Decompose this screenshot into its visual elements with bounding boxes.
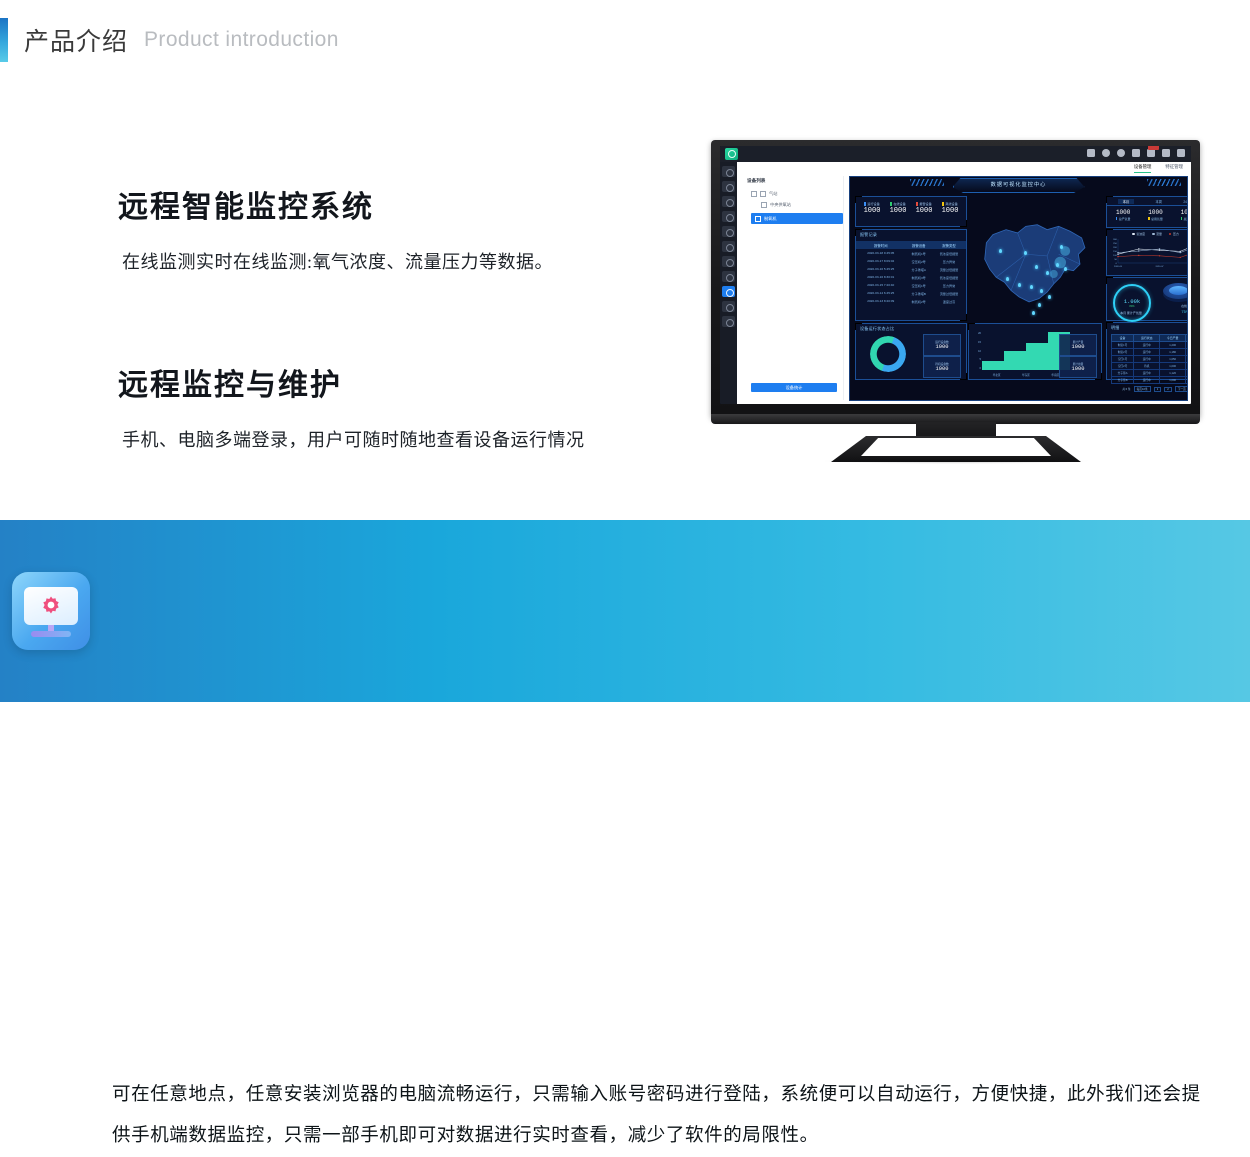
table-cell: 流量过低报警 bbox=[932, 289, 966, 297]
map-pin[interactable] bbox=[1035, 265, 1038, 269]
china-map-shape bbox=[968, 205, 1100, 320]
gear-icon bbox=[39, 595, 63, 619]
map-pin[interactable] bbox=[1030, 285, 1033, 289]
app-logo-icon bbox=[725, 148, 738, 160]
map-pin[interactable] bbox=[1024, 251, 1027, 255]
table-cell: 2020-03-16 5:45:25 bbox=[856, 265, 906, 273]
section-block-2: 远程监控与维护 手机、电脑多端登录，用户可随时随地查看设备运行情况 bbox=[118, 360, 585, 452]
table-cell: 0条 bbox=[1186, 342, 1188, 349]
table-cell: 分子筛塔A bbox=[906, 265, 932, 273]
stats-item: 1000 总运行时 bbox=[1181, 209, 1188, 221]
bar-chart-bars bbox=[982, 332, 1070, 370]
table-row[interactable]: 2020-03-17 8:09:02空压机2号压力异常 bbox=[856, 257, 966, 265]
table-cell: 制氧机3号 bbox=[906, 273, 932, 281]
map-pin[interactable] bbox=[1048, 295, 1051, 299]
detail-col-1: 运行状态 bbox=[1134, 335, 1160, 342]
stats-label: 总用氧量 bbox=[1151, 217, 1163, 221]
table-cell: 1,120 bbox=[1160, 370, 1186, 377]
pagination-per-page[interactable]: 每页10条 bbox=[1134, 386, 1151, 392]
svg-text:150: 150 bbox=[1113, 251, 1117, 253]
table-cell: 温度过高 bbox=[932, 297, 966, 305]
table-cell: 流量过低报警 bbox=[932, 265, 966, 273]
svg-text:2020-07: 2020-07 bbox=[1155, 266, 1164, 268]
map-pin[interactable] bbox=[999, 249, 1002, 253]
kpi-value: 1000 bbox=[864, 207, 881, 215]
pagination-page-2[interactable]: 2 bbox=[1164, 387, 1172, 392]
stats-value: 1000 bbox=[1181, 209, 1188, 216]
tab-device-management[interactable]: 设备管理 bbox=[1134, 164, 1152, 173]
table-cell: 2020-03-14 6:45:25 bbox=[856, 289, 906, 297]
bar bbox=[1004, 351, 1026, 370]
kpi-item: 报警设备 1000 bbox=[916, 201, 933, 215]
clock-icon[interactable] bbox=[1117, 149, 1125, 157]
table-row[interactable]: 2020-03-18 9:45:05制氧机1号氧浓度低报警 bbox=[856, 249, 966, 257]
gauge-caption: 本月 累计产氧量 bbox=[1110, 311, 1152, 315]
stats-label: 总产氧量 bbox=[1119, 217, 1131, 221]
monitor-base bbox=[31, 631, 71, 637]
app-topbar bbox=[720, 146, 1191, 162]
stats-tab-month[interactable]: 本月 bbox=[1118, 199, 1134, 204]
cloud-icon[interactable] bbox=[722, 271, 735, 282]
table-cell: 运行中 bbox=[1134, 342, 1160, 349]
bar-chart-x-axis: 华北区 华东区 华南区 bbox=[982, 373, 1070, 377]
table-cell: 运行中 bbox=[1134, 377, 1160, 384]
alarm-col-2: 报警类型 bbox=[932, 241, 966, 249]
app-content: 设备管理 特征管理 设备列表 气站 中央供氧站 bbox=[737, 162, 1191, 404]
pagination-next[interactable]: 下一页 bbox=[1175, 386, 1188, 392]
map-pin[interactable] bbox=[1060, 245, 1063, 249]
table-cell: 1条 bbox=[1186, 349, 1188, 356]
tab-feature-management[interactable]: 特征管理 bbox=[1165, 164, 1183, 173]
table-cell: 分子筛B bbox=[1111, 377, 1133, 384]
table-row[interactable]: 2020-03-13 8:20:09制氧机2号温度过高 bbox=[856, 297, 966, 305]
checkbox-icon[interactable] bbox=[755, 216, 761, 222]
detail-col-3: 报警 bbox=[1186, 335, 1188, 342]
mail-icon[interactable] bbox=[1132, 149, 1140, 157]
dashboard-title: 数据可视化监控中心 bbox=[991, 181, 1047, 188]
line-series bbox=[1118, 243, 1188, 255]
trash-icon[interactable] bbox=[1087, 149, 1095, 157]
table-cell: 2020-03-17 8:09:02 bbox=[856, 257, 906, 265]
header-accent-bar bbox=[0, 18, 8, 62]
table-cell: 制氧机2号 bbox=[906, 297, 932, 305]
alarm-col-0: 报警时间 bbox=[856, 241, 906, 249]
alert-icon[interactable] bbox=[722, 196, 735, 207]
monitor-icon[interactable] bbox=[722, 286, 735, 297]
disc-stat-0: 在线率75% bbox=[1181, 304, 1188, 314]
line-chart-panel: 氧浓度 流量 压力 0501001502002503002020-052020-… bbox=[1106, 229, 1188, 276]
tree-item-label: 中央供氧站 bbox=[770, 202, 791, 208]
donut-chart bbox=[870, 336, 906, 372]
app-sidebar-rail bbox=[720, 162, 737, 404]
kpi-value: 1000 bbox=[916, 207, 933, 215]
page-title-en: Product introduction bbox=[144, 28, 339, 52]
info-icon[interactable] bbox=[722, 301, 735, 312]
bar-stat-1: 累计用量 1000 bbox=[1059, 356, 1097, 378]
topbar-icon-group bbox=[1087, 149, 1185, 157]
kpi-item: 运行设备 1000 bbox=[864, 201, 881, 215]
table-row[interactable]: 2020-03-15 7:20:40空压机1号压力异常 bbox=[856, 281, 966, 289]
user-icon[interactable] bbox=[1162, 149, 1170, 157]
china-map bbox=[968, 205, 1100, 320]
table-cell: 2020-03-15 7:20:40 bbox=[856, 281, 906, 289]
bar-chart-panel: 20 15 10 5 0 华北区 华东区 华南区 bbox=[968, 323, 1102, 380]
table-cell: 分子筛A bbox=[1111, 370, 1133, 377]
table-cell: 1,180 bbox=[1160, 349, 1186, 356]
table-cell: 运行中 bbox=[1134, 370, 1160, 377]
folder-icon bbox=[760, 191, 766, 197]
table-cell: 制氧机1号 bbox=[906, 249, 932, 257]
table-cell: 压力异常 bbox=[932, 257, 966, 265]
map-pin[interactable] bbox=[1018, 283, 1021, 287]
table-row[interactable]: 制氧1号运行中1,2000条 bbox=[1111, 342, 1188, 349]
person-icon[interactable] bbox=[722, 256, 735, 267]
table-cell: 氧浓度低报警 bbox=[932, 249, 966, 257]
svg-text:0: 0 bbox=[1116, 263, 1118, 265]
table-cell: 制氧1号 bbox=[1111, 342, 1133, 349]
svg-text:250: 250 bbox=[1113, 243, 1117, 245]
oxygen-gauge: 1.00k 80% bbox=[1113, 284, 1151, 322]
bottom-info-band: 可在任意地点，任意安装浏览器的电脑流畅运行，只需输入账号密码进行登陆，系统便可以… bbox=[0, 520, 1250, 702]
table-cell: 1,090 bbox=[1160, 377, 1186, 384]
stats-item: 1000 总用氧量 bbox=[1148, 209, 1162, 221]
list-icon[interactable] bbox=[722, 316, 735, 327]
gauge-panel: 1.00k 80% 本月 累计产氧量 在线率75% 完好率75% bbox=[1106, 277, 1188, 321]
svg-text:300: 300 bbox=[1113, 239, 1117, 241]
device-tree-title: 设备列表 bbox=[747, 178, 843, 184]
kpi-label: 在线设备 bbox=[893, 201, 905, 206]
tree-item-2[interactable]: 制氧机 bbox=[751, 213, 843, 224]
stats-tab-24h[interactable]: 24小时 bbox=[1183, 199, 1188, 204]
table-cell: 压力异常 bbox=[932, 281, 966, 289]
donut-stat-0: 运行设备数 1000 bbox=[923, 334, 961, 356]
kpi-label: 运行设备 bbox=[867, 201, 879, 206]
section-2-body: 手机、电脑多端登录，用户可随时随地查看设备运行情况 bbox=[122, 426, 585, 452]
table-cell: 1,200 bbox=[1160, 342, 1186, 349]
svg-text:100: 100 bbox=[1113, 255, 1117, 257]
tv-monitor-mockup: 设备管理 特征管理 设备列表 气站 中央供氧站 bbox=[711, 140, 1200, 470]
checkbox-icon[interactable] bbox=[751, 191, 757, 197]
bar bbox=[1026, 343, 1048, 370]
tree-item-label: 制氧机 bbox=[764, 216, 777, 222]
dashboard-application: 设备管理 特征管理 设备列表 气站 中央供氧站 bbox=[720, 146, 1191, 404]
svg-text:50: 50 bbox=[1114, 259, 1117, 261]
table-cell: 空压机1号 bbox=[906, 281, 932, 289]
map-pin[interactable] bbox=[1032, 311, 1035, 315]
detail-table-title: 明细 bbox=[1111, 325, 1188, 331]
disc-chart bbox=[1163, 283, 1188, 305]
table-cell: 运行中 bbox=[1134, 356, 1160, 363]
kpi-item: 在线设备 1000 bbox=[890, 201, 907, 215]
donut-chart-panel: 设备运行状态占比 运行设备数 1000 待机设备数 1000 bbox=[855, 323, 967, 380]
visual-dashboard: 数据可视化监控中心 运行设备 1000 在线设备 1000 bbox=[849, 176, 1188, 401]
tree-item-0[interactable]: 气站 bbox=[751, 191, 843, 197]
alarm-table: 报警时间 报警设备 报警类型 2020-03-18 9:45:05制氧机1号氧浓… bbox=[856, 241, 966, 305]
table-cell: 分子筛塔B bbox=[906, 289, 932, 297]
table-cell: 空压机2号 bbox=[906, 257, 932, 265]
bar bbox=[982, 361, 1004, 371]
stats-tabs: 本月 本周 24小时 bbox=[1107, 197, 1188, 206]
table-cell: 0条 bbox=[1186, 370, 1188, 377]
map-pin[interactable] bbox=[1006, 277, 1009, 281]
alarm-table-title: 报警记录 bbox=[860, 232, 966, 238]
alarm-col-1: 报警设备 bbox=[906, 241, 932, 249]
table-cell: 空压2号 bbox=[1111, 363, 1133, 370]
table-row[interactable]: 分子筛B运行中1,0901条 bbox=[1111, 377, 1188, 384]
section-1-heading: 远程智能监控系统 bbox=[118, 182, 553, 226]
table-cell: 制氧2号 bbox=[1111, 349, 1133, 356]
table-cell: 待机 bbox=[1134, 363, 1160, 370]
kpi-item: 离线设备 1000 bbox=[942, 201, 959, 215]
table-cell: 1,000 bbox=[1160, 363, 1186, 370]
kpi-label: 报警设备 bbox=[919, 201, 931, 206]
table-cell: 0条 bbox=[1186, 356, 1188, 363]
tree-item-label: 气站 bbox=[769, 191, 777, 197]
detail-col-2: 今日产量 bbox=[1160, 335, 1186, 342]
table-row[interactable]: 空压2号待机1,0002条 bbox=[1111, 363, 1188, 370]
tv-shadow bbox=[821, 458, 1091, 464]
table-cell: 2020-03-16 8:30:01 bbox=[856, 273, 906, 281]
table-row[interactable]: 2020-03-14 6:45:25分子筛塔B流量过低报警 bbox=[856, 289, 966, 297]
table-row[interactable]: 制氧2号运行中1,1801条 bbox=[1111, 349, 1188, 356]
pagination-total: 共 6 条 bbox=[1122, 387, 1130, 391]
stats-tab-week[interactable]: 本周 bbox=[1156, 199, 1162, 204]
donut-chart-title: 设备运行状态占比 bbox=[860, 326, 966, 332]
tv-screen: 设备管理 特征管理 设备列表 气站 中央供氧站 bbox=[720, 146, 1191, 404]
table-cell: 空压1号 bbox=[1111, 356, 1133, 363]
stats-value: 1000 bbox=[1116, 209, 1130, 216]
section-block-1: 远程智能监控系统 在线监测实时在线监测:氧气浓度、流量压力等数据。 bbox=[118, 182, 553, 274]
alarm-table-panel: 报警记录 报警时间 报警设备 报警类型 2020-03-18 9:45:05制氧… bbox=[855, 229, 967, 321]
monitor-gear-icon bbox=[12, 572, 90, 650]
kpi-panel: 运行设备 1000 在线设备 1000 报警设备 1000 bbox=[855, 196, 967, 227]
table-row[interactable]: 空压1号运行中1,0500条 bbox=[1111, 356, 1188, 363]
kpi-value: 1000 bbox=[890, 207, 907, 215]
alert-icon[interactable] bbox=[1147, 149, 1155, 157]
device-tree-panel: 设备列表 气站 中央供氧站 制氧机 设备统计 bbox=[745, 176, 844, 400]
donut-stat-1: 待机设备数 1000 bbox=[923, 356, 961, 378]
detail-table-panel: 明细 设备 运行状态 今日产量 报警 制氧1号运行中1,2000条制氧2号运行中… bbox=[1106, 322, 1188, 380]
line-chart-svg: 0501001502002503002020-052020-072020-09 bbox=[1107, 236, 1188, 268]
disc-chart-stats: 在线率75% 完好率75% bbox=[1154, 304, 1188, 314]
checkbox-icon[interactable] bbox=[761, 202, 767, 208]
hatch-decoration-right bbox=[1147, 179, 1181, 186]
grid-icon[interactable] bbox=[722, 211, 735, 222]
bell-icon[interactable] bbox=[1102, 149, 1110, 157]
map-pin[interactable] bbox=[1038, 303, 1041, 307]
kpi-label: 离线设备 bbox=[945, 201, 957, 206]
section-2-heading: 远程监控与维护 bbox=[118, 360, 585, 404]
band-paragraph: 可在任意地点，任意安装浏览器的电脑流畅运行，只需输入账号密码进行登陆，系统便可以… bbox=[112, 1075, 1202, 1157]
table-cell: 运行中 bbox=[1134, 349, 1160, 356]
table-row[interactable]: 2020-03-16 8:30:01制氧机3号氧浓度低报警 bbox=[856, 273, 966, 281]
stats-value: 1000 bbox=[1148, 209, 1162, 216]
message-icon[interactable] bbox=[722, 181, 735, 192]
table-cell: 氧浓度低报警 bbox=[932, 273, 966, 281]
page-header: 产品介绍 Product introduction bbox=[0, 18, 339, 62]
stats-label: 总运行时 bbox=[1183, 217, 1188, 221]
detail-col-0: 设备 bbox=[1111, 335, 1133, 342]
map-pin[interactable] bbox=[1056, 263, 1059, 267]
map-pin[interactable] bbox=[1040, 289, 1043, 293]
svg-text:200: 200 bbox=[1113, 247, 1117, 249]
table-cell: 1,050 bbox=[1160, 356, 1186, 363]
stats-panel: 本月 本周 24小时 1000 总产氧量 1000 总用氧量 bbox=[1106, 196, 1188, 228]
stats-item: 1000 总产氧量 bbox=[1116, 209, 1130, 221]
detail-table: 设备 运行状态 今日产量 报警 制氧1号运行中1,2000条制氧2号运行中1,1… bbox=[1111, 334, 1188, 384]
map-pin[interactable] bbox=[1064, 267, 1067, 271]
tree-item-1[interactable]: 中央供氧站 bbox=[761, 202, 843, 208]
table-cell: 2020-03-13 8:20:09 bbox=[856, 297, 906, 305]
page-title-cn: 产品介绍 bbox=[24, 22, 128, 58]
table-cell: 1条 bbox=[1186, 377, 1188, 384]
kpi-value: 1000 bbox=[942, 207, 959, 215]
pagination-page-1[interactable]: 1 bbox=[1154, 387, 1162, 392]
home-icon[interactable] bbox=[722, 166, 735, 177]
bar-stat-0: 累计产量 1000 bbox=[1059, 334, 1097, 356]
svg-text:2020-05: 2020-05 bbox=[1114, 266, 1123, 268]
detail-table-pagination: 共 6 条 每页10条 1 2 下一页 bbox=[1107, 386, 1188, 392]
content-tabs: 设备管理 特征管理 bbox=[1134, 164, 1183, 173]
table-row[interactable]: 2020-03-16 5:45:25分子筛塔A流量过低报警 bbox=[856, 265, 966, 273]
map-pin[interactable] bbox=[1046, 271, 1049, 275]
gauge-sub: 80% bbox=[1129, 305, 1134, 308]
note-icon[interactable] bbox=[722, 226, 735, 237]
device-stats-button[interactable]: 设备统计 bbox=[751, 383, 837, 392]
settings-icon[interactable] bbox=[722, 241, 735, 252]
hatch-decoration-left bbox=[910, 179, 944, 186]
table-cell: 2020-03-18 9:45:05 bbox=[856, 249, 906, 257]
table-cell: 2条 bbox=[1186, 363, 1188, 370]
bar-chart-y-axis: 20 15 10 5 0 bbox=[971, 332, 981, 370]
section-1-body: 在线监测实时在线监测:氧气浓度、流量压力等数据。 bbox=[122, 248, 553, 274]
table-row[interactable]: 分子筛A运行中1,1200条 bbox=[1111, 370, 1188, 377]
contrast-icon[interactable] bbox=[1177, 149, 1185, 157]
